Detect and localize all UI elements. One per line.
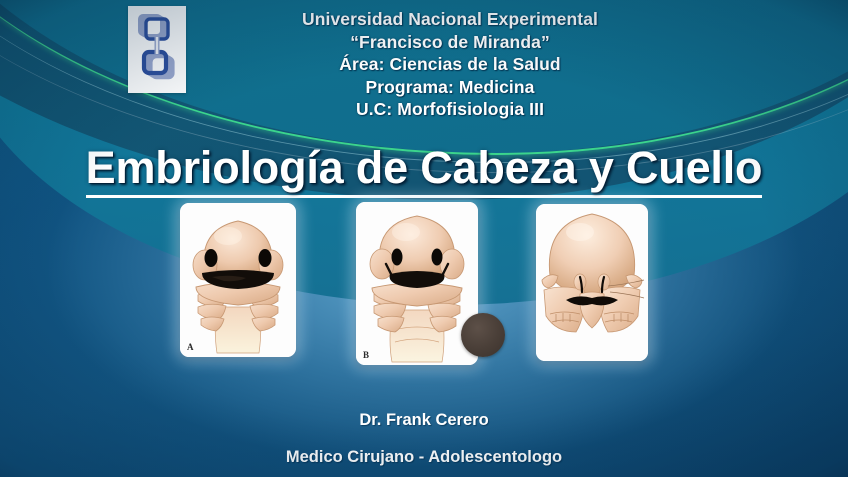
figure-label-b: B: [363, 350, 369, 360]
unefm-logo: [128, 6, 186, 93]
institution-header: Universidad Nacional Experimental “Franc…: [190, 8, 710, 121]
presentation-slide: Universidad Nacional Experimental “Franc…: [0, 0, 848, 477]
figure-card-a: A: [180, 203, 296, 357]
header-line-course: U.C: Morfofisiologia III: [190, 98, 710, 121]
header-line-university: Universidad Nacional Experimental: [190, 8, 710, 31]
page-title: Embriología de Cabeza y Cuello: [0, 143, 848, 198]
figure-card-c: [536, 204, 648, 361]
presenter-name: Dr. Frank Cerero: [0, 408, 848, 432]
figure-card-b: B: [356, 202, 478, 365]
cursor-blob-icon: [461, 313, 505, 357]
figure-label-a: A: [187, 342, 194, 352]
header-line-area: Área: Ciencias de la Salud: [190, 53, 710, 76]
presenter-role: Medico Cirujano - Adolescentologo: [0, 445, 848, 469]
header-line-name: “Francisco de Miranda”: [190, 31, 710, 54]
header-line-program: Programa: Medicina: [190, 76, 710, 99]
page-title-text: Embriología de Cabeza y Cuello: [86, 143, 763, 198]
presenter-footer: Dr. Frank Cerero Medico Cirujano - Adole…: [0, 408, 848, 469]
